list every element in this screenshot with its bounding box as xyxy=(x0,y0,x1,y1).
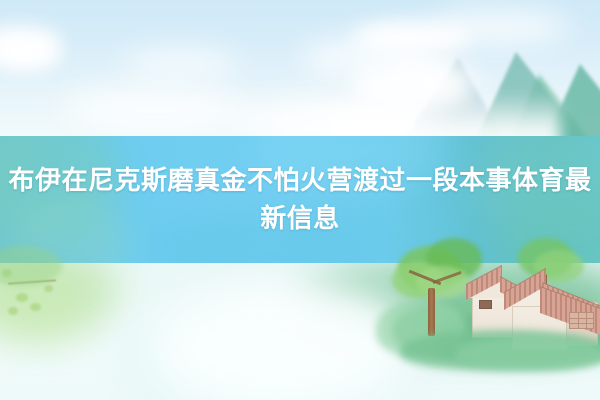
window-bar xyxy=(570,318,593,319)
leaf-dot xyxy=(30,303,41,311)
headline-text: 布伊在尼克斯磨真金不怕火营渡过一段本事体育最新信息 xyxy=(0,136,600,263)
screenshot-root: 布伊在尼克斯磨真金不怕火营渡过一段本事体育最新信息 xyxy=(0,0,600,400)
house-window-small xyxy=(479,300,492,309)
leaf-dot xyxy=(16,293,28,302)
window-bar xyxy=(586,313,587,328)
tree-canopy xyxy=(416,266,470,298)
tree-trunk xyxy=(428,288,435,336)
window-bar xyxy=(578,313,579,328)
cloud-icon xyxy=(60,86,250,132)
house-window xyxy=(569,312,594,329)
headline-banner: 布伊在尼克斯磨真金不怕火营渡过一段本事体育最新信息 xyxy=(0,136,600,263)
cloud-icon xyxy=(392,66,482,96)
window-bar xyxy=(570,323,593,324)
cloud-icon xyxy=(120,50,240,76)
cloud-icon xyxy=(430,10,570,44)
grass-foreground xyxy=(455,336,600,370)
leaf-dot xyxy=(8,307,18,315)
leaf-dot xyxy=(44,285,53,292)
